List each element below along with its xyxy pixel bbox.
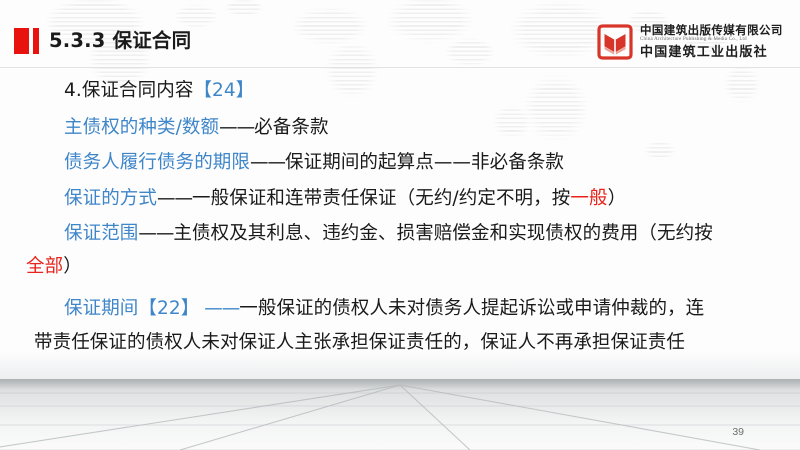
publisher-logo: 中国建筑出版传媒有限公司 China Architecture Publishi… xyxy=(596,22,788,62)
term-1: 主债权的种类/数额 xyxy=(64,117,219,138)
content-heading-text: 4.保证合同内容 xyxy=(64,80,193,101)
perspective-floor xyxy=(0,379,800,450)
desc-4a: 主债权及其利息、违约金、损害赔偿金和实现债权的费用（无约按 xyxy=(173,223,712,244)
open-book-logo-mark-icon xyxy=(596,23,634,61)
term-4: 保证范围 xyxy=(64,223,138,244)
content-line-3: 保证的方式——一般保证和连带责任保证（无约/约定不明，按一般） xyxy=(64,190,778,209)
dash-5: —— xyxy=(199,298,239,319)
horizon-fade xyxy=(0,352,800,380)
floor-grid-lines xyxy=(0,379,800,450)
content-heading: 4.保证合同内容【24】 xyxy=(64,82,778,101)
desc-4b: ） xyxy=(63,256,82,277)
publisher-imprint-name: 中国建筑工业出版社 xyxy=(640,46,783,59)
dash-4: —— xyxy=(138,223,173,244)
term-3: 保证的方式 xyxy=(64,188,157,209)
content-line-5: 保证期间【22】 ——一般保证的债权人未对债务人提起诉讼或申请仲裁的，连 xyxy=(64,300,778,319)
header-divider xyxy=(0,67,800,68)
desc-5a: 一般保证的债权人未对债务人提起诉讼或申请仲裁的，连 xyxy=(239,298,704,319)
desc-1: 必备条款 xyxy=(254,117,328,138)
desc-3-highlight: 一般 xyxy=(570,188,607,209)
dash-3: —— xyxy=(157,188,192,209)
desc-2: 保证期间的起算点——非必备条款 xyxy=(285,152,564,173)
content-line-4: 保证范围——主债权及其利息、违约金、损害赔偿金和实现债权的费用（无约按 xyxy=(64,225,778,244)
slide-header: 5.3.3 保证合同 中国建筑出版传媒有限公司 China Architectu… xyxy=(0,0,800,68)
content-line-4-wrap: 全部） xyxy=(26,258,778,277)
term-5: 保证期间 xyxy=(64,298,138,319)
content-heading-ref: 【24】 xyxy=(193,80,254,101)
content-line-2: 债务人履行债务的期限——保证期间的起算点——非必备条款 xyxy=(64,154,778,173)
red-bar-wide-icon xyxy=(14,28,29,54)
publisher-logo-text: 中国建筑出版传媒有限公司 China Architecture Publishi… xyxy=(640,25,783,59)
desc-3a: 一般保证和连带责任保证（无约/约定不明，按 xyxy=(192,188,570,209)
desc-3b: ） xyxy=(608,188,627,209)
content-line-1: 主债权的种类/数额——必备条款 xyxy=(64,119,778,138)
slide-canvas: 5.3.3 保证合同 中国建筑出版传媒有限公司 China Architectu… xyxy=(0,0,800,450)
term-5-ref: 【22】 xyxy=(138,298,199,319)
slide-body: 4.保证合同内容【24】 主债权的种类/数额——必备条款 债务人履行债务的期限—… xyxy=(26,78,778,352)
page-number: 39 xyxy=(732,426,744,438)
content-line-5-wrap: 带责任保证的债权人未对保证人主张承担保证责任的，保证人不再承担保证责任 xyxy=(34,334,778,353)
term-2: 债务人履行债务的期限 xyxy=(64,152,250,173)
desc-4-highlight: 全部 xyxy=(26,256,63,277)
publisher-company-name: 中国建筑出版传媒有限公司 xyxy=(640,25,783,37)
dash-1: —— xyxy=(219,117,254,138)
dash-2: —— xyxy=(250,152,285,173)
page-title: 5.3.3 保证合同 xyxy=(49,28,191,54)
publisher-company-name-en: China Architecture Publishing & Media Co… xyxy=(640,38,783,43)
red-bar-thin-icon xyxy=(33,28,39,54)
